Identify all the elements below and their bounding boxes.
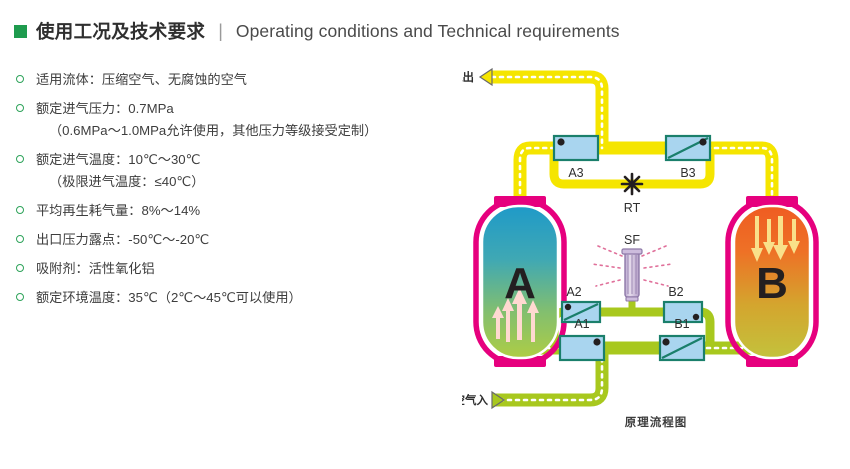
page-title-cn: 使用工况及技术要求 bbox=[36, 18, 205, 44]
list-item: 额定进气温度：10℃～30℃ （极限进气温度：≤40℃） bbox=[14, 150, 444, 192]
circle-bullet-icon bbox=[16, 75, 24, 83]
diagram-caption: 原理流程图 bbox=[462, 414, 850, 430]
process-flow-diagram: 干燥空气出 潮湿空气入 A bbox=[462, 56, 850, 456]
list-item: 适用流体：压缩空气、无腐蚀的空气 bbox=[14, 70, 444, 90]
dry-air-outlet-arrow-icon bbox=[480, 69, 492, 85]
vessel-a-label: A bbox=[504, 259, 536, 308]
list-item-main: 额定进气压力：0.7MPa bbox=[36, 101, 174, 116]
circle-bullet-icon bbox=[16, 235, 24, 243]
page-title-en: Operating conditions and Technical requi… bbox=[236, 21, 620, 42]
silencer-sf: SF bbox=[592, 233, 672, 301]
list-item-main: 额定环境温度：35℃（2℃～45℃可以使用） bbox=[36, 290, 302, 305]
circle-bullet-icon bbox=[16, 155, 24, 163]
dry-air-outlet-label: 干燥空气出 bbox=[462, 70, 474, 84]
list-item-sub: （0.6MPa～1.0MPa允许使用，其他压力等级接受定制） bbox=[36, 121, 444, 141]
list-item: 平均再生耗气量：8%～14% bbox=[14, 201, 444, 221]
wet-air-inlet-label: 潮湿空气入 bbox=[462, 393, 488, 407]
list-item: 额定进气压力：0.7MPa （0.6MPa～1.0MPa允许使用，其他压力等级接… bbox=[14, 99, 444, 141]
valve-b1-label: B1 bbox=[674, 317, 689, 331]
valve-b1[interactable]: B1 bbox=[660, 317, 704, 360]
circle-bullet-icon bbox=[16, 293, 24, 301]
list-item-main: 额定进气温度：10℃～30℃ bbox=[36, 152, 200, 167]
valve-a3-label: A3 bbox=[568, 166, 583, 180]
restrictor-rt-label: RT bbox=[624, 201, 641, 215]
circle-bullet-icon bbox=[16, 104, 24, 112]
valve-a1-label: A1 bbox=[574, 317, 589, 331]
list-item-main: 出口压力露点：-50℃～-20℃ bbox=[36, 232, 209, 247]
title-separator: | bbox=[218, 21, 223, 42]
valve-b3[interactable]: B3 bbox=[666, 136, 710, 180]
list-item: 出口压力露点：-50℃～-20℃ bbox=[14, 230, 444, 250]
spec-list: 适用流体：压缩空气、无腐蚀的空气 额定进气压力：0.7MPa （0.6MPa～1… bbox=[14, 70, 444, 317]
vessel-a: A bbox=[476, 196, 564, 367]
valve-b2-label: B2 bbox=[668, 285, 683, 299]
green-square-marker-icon bbox=[14, 25, 27, 38]
section-header: 使用工况及技术要求 | Operating conditions and Tec… bbox=[14, 14, 834, 48]
circle-bullet-icon bbox=[16, 206, 24, 214]
vessel-b: B bbox=[728, 196, 816, 367]
valve-b3-label: B3 bbox=[680, 166, 695, 180]
silencer-sf-label: SF bbox=[624, 233, 640, 247]
list-item: 吸附剂：活性氧化铝 bbox=[14, 259, 444, 279]
list-item-main: 吸附剂：活性氧化铝 bbox=[36, 261, 155, 276]
list-item-sub: （极限进气温度：≤40℃） bbox=[36, 172, 444, 192]
vessel-b-label: B bbox=[756, 259, 788, 308]
list-item-main: 适用流体：压缩空气、无腐蚀的空气 bbox=[36, 72, 247, 87]
valve-a2-label: A2 bbox=[566, 285, 581, 299]
list-item: 额定环境温度：35℃（2℃～45℃可以使用） bbox=[14, 288, 444, 308]
valve-a3[interactable]: A3 bbox=[554, 136, 598, 180]
list-item-main: 平均再生耗气量：8%～14% bbox=[36, 203, 200, 218]
circle-bullet-icon bbox=[16, 264, 24, 272]
